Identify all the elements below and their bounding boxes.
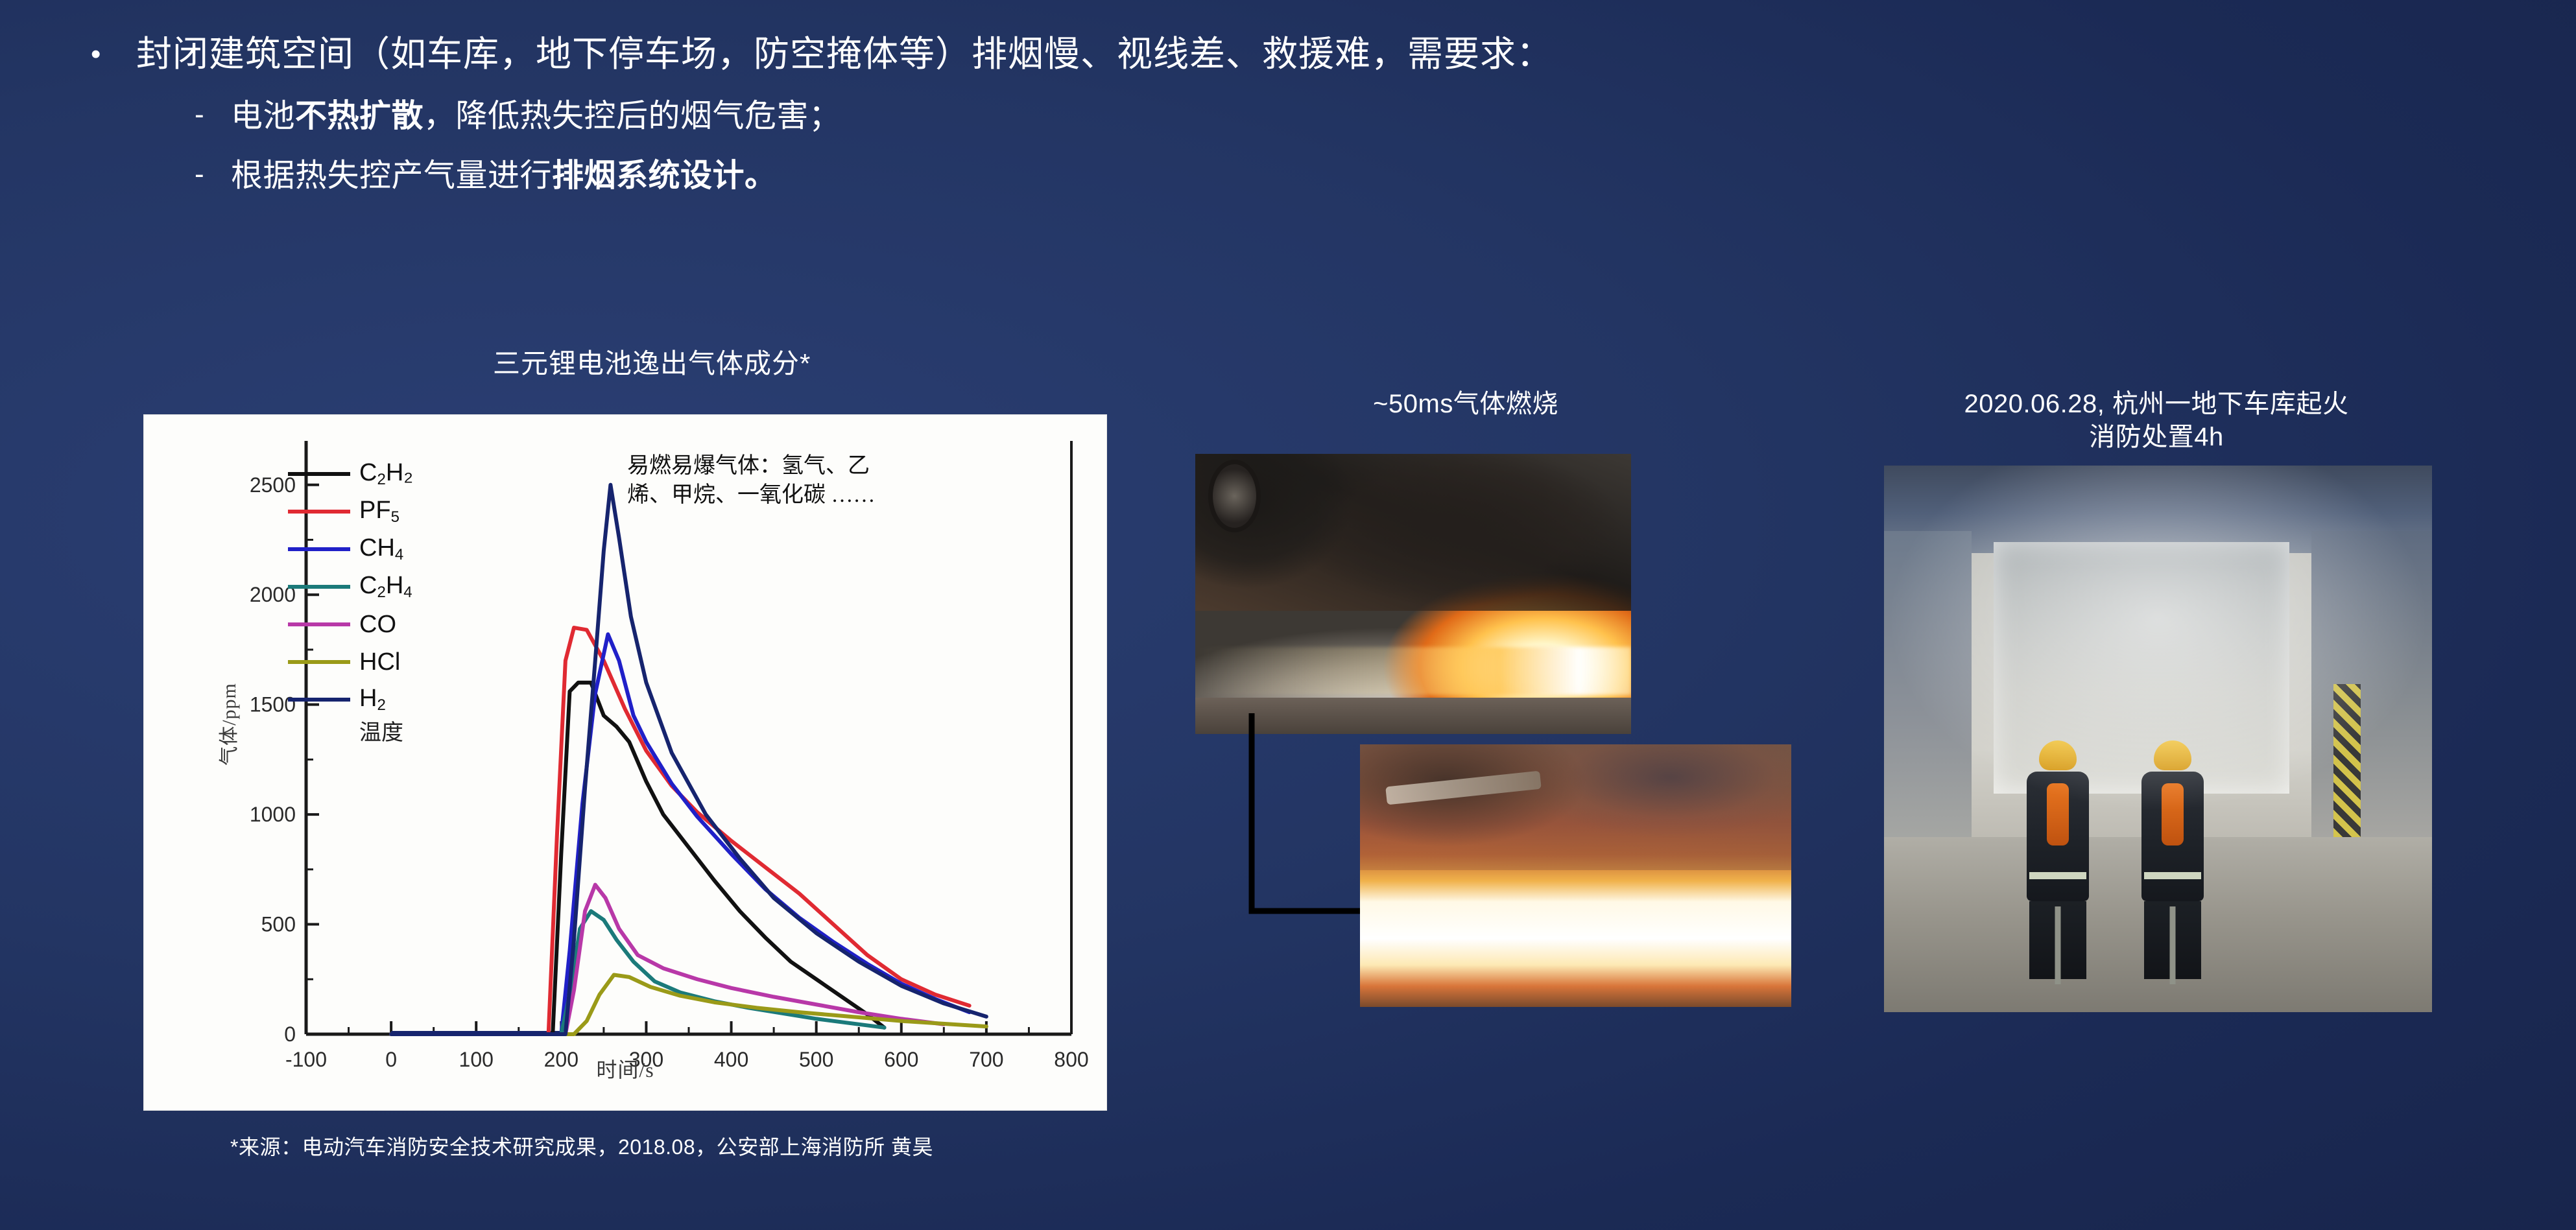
bullet-list: • 封闭建筑空间（如车库，地下停车场，防空掩体等）排烟慢、视线差、救援难，需要求…: [0, 0, 2205, 197]
legend-item-c2h4: C2H4: [288, 568, 413, 606]
wheel-rim: [1208, 460, 1261, 532]
legend-label: C2H4: [359, 572, 412, 602]
legend-label: PF5: [359, 497, 400, 526]
flame-glow: [1195, 647, 1631, 694]
sub2-bold: 排烟系统设计。: [552, 158, 777, 193]
legend-item-ch4: CH4: [288, 530, 413, 568]
chart-x-axis-label: 时间/s: [144, 1054, 1106, 1083]
bullet-marker-icon: •: [91, 31, 136, 69]
sub1-after: ，降低热失控后的烟气危害；: [423, 99, 841, 134]
chart-source-note: *来源：电动汽车消防安全技术研究成果，2018.08，公安部上海消防所 黄昊: [230, 1131, 933, 1161]
legend-item-hcl: HCl: [288, 643, 413, 681]
legend-item-h2: H2: [288, 681, 413, 718]
gas-composition-chart: -100010020030040050060070080005001000150…: [144, 415, 1106, 1110]
chart-y-axis-label: 气体/ppm: [213, 627, 241, 822]
legend-label: C2H₂: [359, 459, 413, 489]
svg-text:1000: 1000: [250, 803, 296, 826]
legend-item-pf5: PF5: [288, 493, 413, 530]
sub2-before: 根据热失控产气量进行: [231, 158, 552, 193]
sub-bullet-marker-icon: -: [195, 95, 231, 131]
sub-bullet-marker-icon-2: -: [195, 154, 231, 191]
sub-bullet-2: - 根据热失控产气量进行排烟系统设计。: [195, 154, 2205, 197]
photo-firefighters-garage: [1884, 466, 2432, 1012]
chart-title: 三元锂电池逸出气体成分*: [493, 342, 811, 381]
main-bullet: • 封闭建筑空间（如车库，地下停车场，防空掩体等）排烟慢、视线差、救援难，需要求…: [91, 31, 2205, 78]
chart-annotation-line-2: 烯、甲烷、一氧化碳 ……: [627, 481, 876, 510]
legend-label: CO: [359, 611, 396, 639]
mid-photo-caption: ~50ms气体燃烧: [1187, 388, 1745, 421]
sub-bullet-1: - 电池不热扩散，降低热失控后的烟气危害；: [195, 95, 2205, 137]
sub1-bold: 不热扩散: [295, 99, 423, 134]
right-photo-caption: 2020.06.28, 杭州一地下车库起火 消防处置4h: [1829, 388, 2484, 454]
sub-bullet-2-text: 根据热失控产气量进行排烟系统设计。: [231, 154, 777, 197]
photo-gas-combustion-zoom: [1360, 744, 1791, 1007]
legend-swatch-icon: [288, 547, 350, 551]
smoke-overlay: [1884, 466, 2432, 1012]
svg-text:500: 500: [261, 913, 296, 936]
legend-swatch-icon: [288, 510, 350, 514]
main-bullet-text: 封闭建筑空间（如车库，地下停车场，防空掩体等）排烟慢、视线差、救援难，需要求：: [136, 31, 1553, 78]
svg-text:0: 0: [284, 1023, 296, 1046]
legend-label: H2: [359, 685, 386, 715]
sub1-before: 电池: [231, 99, 295, 134]
photo-gas-combustion-wide: [1195, 454, 1631, 734]
legend-item-c2h2: C2H₂: [288, 455, 413, 493]
legend-swatch-icon: [288, 472, 350, 476]
legend-swatch-icon: [288, 698, 350, 702]
car-underbody: [1195, 454, 1631, 611]
legend-label: HCl: [359, 648, 400, 676]
legend-swatch-icon: [288, 585, 350, 589]
legend-swatch-icon: [288, 660, 350, 664]
chart-legend: C2H₂PF5CH4C2H4COHClH2温度: [288, 455, 413, 746]
chart-annotation-line-1: 易燃易爆气体：氢气、乙: [627, 452, 876, 481]
legend-swatch-icon: [288, 622, 350, 626]
car-underbody-zoom: [1360, 744, 1791, 870]
sub-bullet-1-text: 电池不热扩散，降低热失控后的烟气危害；: [231, 95, 841, 137]
legend-item-co: CO: [288, 606, 413, 643]
legend-label: CH4: [359, 534, 403, 564]
chart-annotation: 易燃易爆气体：氢气、乙 烯、甲烷、一氧化碳 ……: [627, 452, 876, 510]
legend-item-temperature: 温度: [359, 715, 413, 746]
